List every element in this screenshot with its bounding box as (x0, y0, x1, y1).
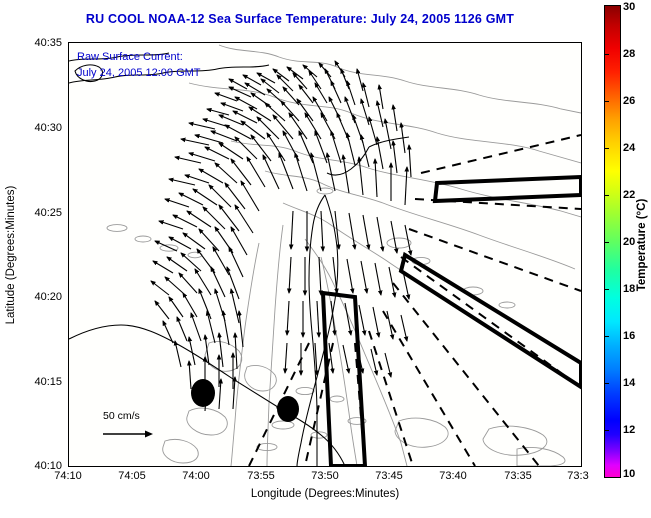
xtick-7: 73:35 (504, 470, 532, 482)
ytick-2: 40:25 (34, 207, 62, 219)
ytick-3: 40:20 (34, 291, 62, 303)
vector-scale-arrow-icon (65, 426, 185, 444)
ytick-1: 40:30 (34, 122, 62, 134)
colorbar-tick-28: 28 (623, 48, 635, 60)
colorbar-tick-12: 12 (623, 424, 635, 436)
xtick-4: 73:50 (311, 470, 339, 482)
y-axis-label-text: Latitude (Degrees:Minutes) (5, 185, 17, 324)
dashed-radial-lines (249, 135, 581, 466)
swath-polygons (323, 177, 581, 466)
station-markers (191, 379, 299, 422)
vector-scale-key: 50 cm/s (65, 410, 185, 444)
annotation-line-2: July 24, 2005 12:00 GMT (77, 65, 201, 81)
station-marker-1 (191, 379, 215, 407)
figure-title: RU COOL NOAA-12 Sea Surface Temperature:… (0, 12, 600, 26)
colorbar-tick-30: 30 (623, 1, 635, 13)
map-graphics (69, 43, 581, 466)
xtick-3: 73:55 (247, 470, 275, 482)
annotation-line-1: Raw Surface Current: (77, 49, 201, 65)
station-marker-2 (277, 396, 299, 422)
colorbar-tick-14: 14 (623, 377, 635, 389)
xtick-5: 73:45 (375, 470, 403, 482)
sst-contour-lines (107, 45, 581, 466)
vector-scale-label: 50 cm/s (65, 410, 185, 422)
ytick-0: 40:35 (34, 37, 62, 49)
colorbar-tick-26: 26 (623, 95, 635, 107)
colorbar-tick-10: 10 (623, 468, 635, 480)
xtick-2: 74:00 (182, 470, 210, 482)
x-axis-label: Longitude (Degrees:Minutes) (68, 488, 582, 500)
current-vector-arrows (151, 61, 411, 411)
xtick-6: 73:40 (439, 470, 467, 482)
plot-clip (69, 43, 581, 466)
colorbar-label: Temperature (°C) (632, 120, 651, 370)
coastline (69, 53, 409, 466)
ytick-5: 40:10 (34, 460, 62, 472)
plot-area: Raw Surface Current: July 24, 2005 12:00… (68, 42, 582, 467)
colorbar-label-text: Temperature (°C) (636, 199, 648, 292)
ytick-4: 40:15 (34, 376, 62, 388)
xtick-8: 73:3 (567, 470, 588, 482)
annotation-text: Raw Surface Current: July 24, 2005 12:00… (77, 49, 201, 81)
xtick-1: 74:05 (118, 470, 146, 482)
y-axis-label: Latitude (Degrees:Minutes) (0, 42, 22, 467)
sst-map-figure: RU COOL NOAA-12 Sea Surface Temperature:… (0, 0, 651, 518)
